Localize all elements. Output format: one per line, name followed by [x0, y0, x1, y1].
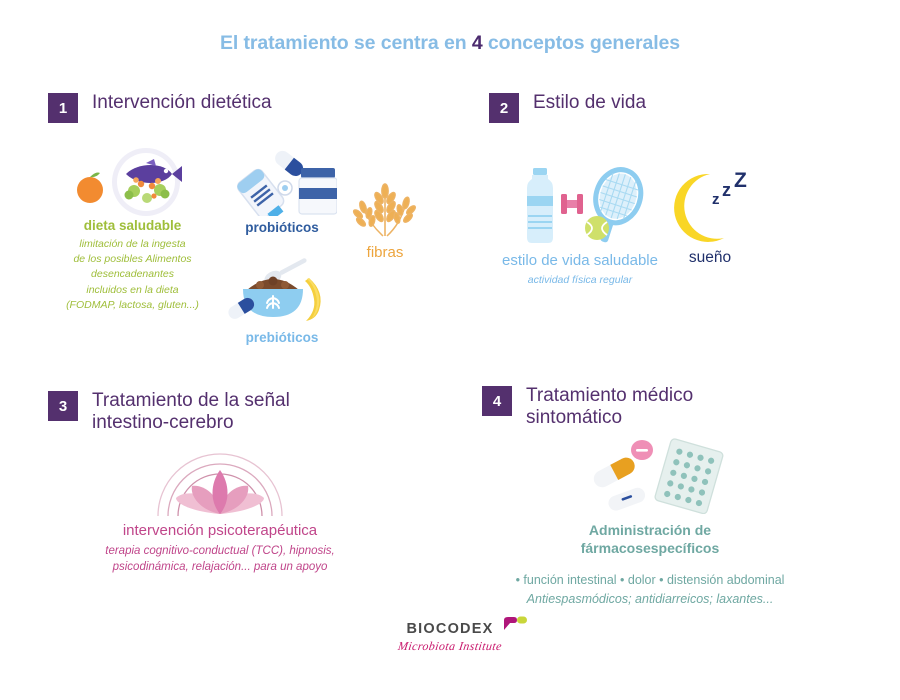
item-subtext: actividad física regular	[490, 273, 670, 288]
section-number-4: 4	[482, 386, 512, 416]
item-tratamiento-medico: Administración de fármacosespecíficos • …	[470, 438, 830, 609]
page-title-accent: 4	[472, 32, 483, 54]
section-title-1: Intervención dietética	[92, 92, 272, 114]
item-prebioticos: prebióticos	[222, 256, 342, 347]
item-dieta-saludable: dieta saludable limitación de la ingesta…	[35, 146, 230, 313]
section-title-3: Tratamiento de la señal intestino-cerebr…	[92, 390, 290, 435]
cereal-bowl-banana-icon	[222, 256, 342, 326]
brand-tagline: Microbiota Institute	[397, 639, 503, 654]
item-sueno: z z Z sueño	[662, 168, 758, 267]
drug-list-line: Antiespasmódicos; antidiarreicos; laxant…	[470, 590, 830, 609]
probiotic-sachet-capsule-jar-icon	[222, 150, 342, 216]
item-label: dieta saludable	[35, 218, 230, 235]
item-fibras: fibras	[342, 176, 428, 263]
biocodex-mark-icon	[502, 616, 528, 632]
section-number-2: 2	[489, 93, 519, 123]
section-title-2: Estilo de vida	[533, 92, 646, 114]
section-heading-3: 3 Tratamiento de la señal intestino-cere…	[48, 390, 290, 435]
item-subtext: terapia cognitivo-conductual (TCC), hipn…	[70, 543, 370, 576]
water-bottle-dumbbell-racket-icon	[490, 166, 670, 246]
item-intervencion-psicoterapeutica: intervención psicoterapéutica terapia co…	[70, 440, 370, 576]
lotus-flower-icon	[70, 440, 370, 518]
svg-text:Z: Z	[734, 169, 747, 192]
svg-text:z: z	[712, 191, 720, 208]
section-heading-1: 1 Intervención dietética	[48, 92, 272, 123]
crescent-moon-zzz-icon: z z Z	[662, 168, 758, 244]
item-probioticos: probióticos	[222, 150, 342, 237]
item-estilo-de-vida: estilo de vida saludable actividad físic…	[490, 166, 670, 288]
svg-text:z: z	[722, 180, 731, 200]
item-subtext: limitación de la ingesta de los posibles…	[35, 237, 230, 313]
item-label: intervención psicoterapéutica	[70, 522, 370, 541]
section-number-3: 3	[48, 391, 78, 421]
page-title-before: El tratamiento se centra en	[220, 32, 472, 54]
page-title-after: conceptos generales	[483, 32, 680, 54]
item-label: sueño	[662, 248, 758, 267]
wheat-stalks-icon	[342, 176, 428, 238]
section-number-1: 1	[48, 93, 78, 123]
item-bullet-list: • función intestinal • dolor • distensió…	[470, 571, 830, 609]
item-label: probióticos	[222, 220, 342, 237]
item-label: prebióticos	[222, 330, 342, 347]
footer-logo: BIOCODEX Microbiota Institute	[0, 620, 900, 655]
bullet-line: • función intestinal • dolor • distensió…	[470, 571, 830, 590]
page-title: El tratamiento se centra en 4 conceptos …	[0, 32, 900, 55]
infographic-canvas: El tratamiento se centra en 4 conceptos …	[0, 0, 900, 700]
section-heading-2: 2 Estilo de vida	[489, 92, 646, 123]
item-label: fibras	[342, 244, 428, 263]
plate-fish-vegetables-icon	[35, 146, 230, 218]
section-title-4: Tratamiento médico sintomático	[526, 385, 693, 430]
item-label: Administración de fármacosespecíficos	[470, 522, 830, 557]
section-heading-4: 4 Tratamiento médico sintomático	[482, 385, 693, 430]
pills-blister-pack-icon	[470, 438, 830, 514]
item-label: estilo de vida saludable	[490, 252, 670, 271]
brand-name: BIOCODEX	[407, 621, 494, 637]
